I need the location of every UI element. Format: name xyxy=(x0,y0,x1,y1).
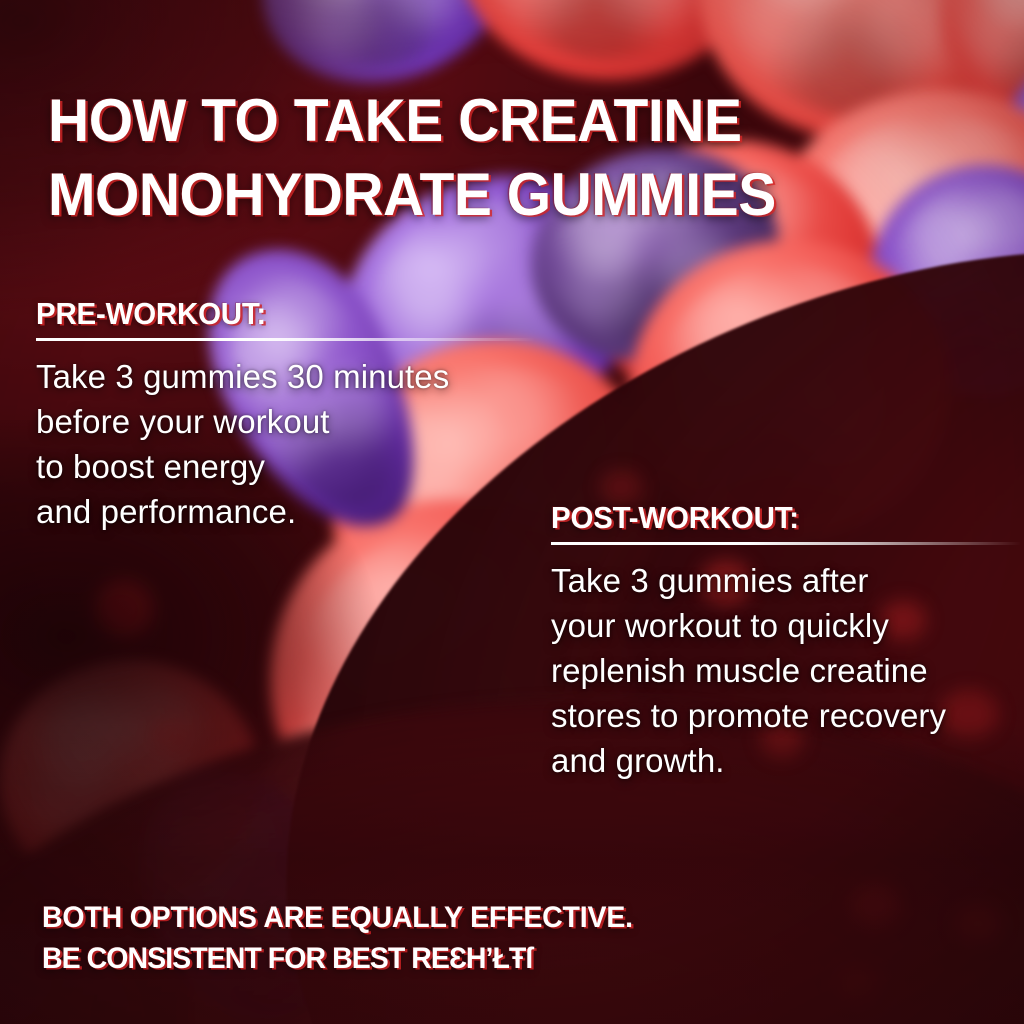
footer-line: BOTH OPTIONS ARE EQUALLY EFFECTIVE. xyxy=(42,897,935,938)
body-line: before your workout xyxy=(36,399,536,444)
post-workout-divider xyxy=(551,542,1021,545)
title-line: HOW TO TAKE CREATINE xyxy=(48,84,903,158)
footer-line: BE CONSISTENT FOR BEST REƐHʼŁŦſ xyxy=(42,938,935,979)
body-line: Take 3 gummies 30 minutes xyxy=(36,354,536,399)
footer-callout: BOTH OPTIONS ARE EQUALLY EFFECTIVE. BE C… xyxy=(42,897,935,979)
pre-workout-block: PRE-WORKOUT: Take 3 gummies 30 minutes b… xyxy=(36,296,536,534)
post-workout-body: Take 3 gummies after your workout to qui… xyxy=(551,558,1021,783)
pre-workout-heading: PRE-WORKOUT: xyxy=(36,296,511,332)
post-workout-heading: POST-WORKOUT: xyxy=(551,500,998,536)
body-line: Take 3 gummies after xyxy=(551,558,1021,603)
infographic-poster: HOW TO TAKE CREATINE MONOHYDRATE GUMMIES… xyxy=(0,0,1024,1024)
pre-workout-divider xyxy=(36,338,536,341)
body-line: your workout to quickly xyxy=(551,603,1021,648)
pre-workout-body: Take 3 gummies 30 minutes before your wo… xyxy=(36,354,536,534)
body-line: replenish muscle creatine xyxy=(551,648,1021,693)
post-workout-block: POST-WORKOUT: Take 3 gummies after your … xyxy=(551,500,1021,783)
title-line: MONOHYDRATE GUMMIES xyxy=(48,158,903,232)
page-title: HOW TO TAKE CREATINE MONOHYDRATE GUMMIES xyxy=(48,84,903,232)
body-line: and performance. xyxy=(36,489,536,534)
body-line: stores to promote recovery xyxy=(551,693,1021,738)
body-line: and growth. xyxy=(551,738,1021,783)
body-line: to boost energy xyxy=(36,444,536,489)
